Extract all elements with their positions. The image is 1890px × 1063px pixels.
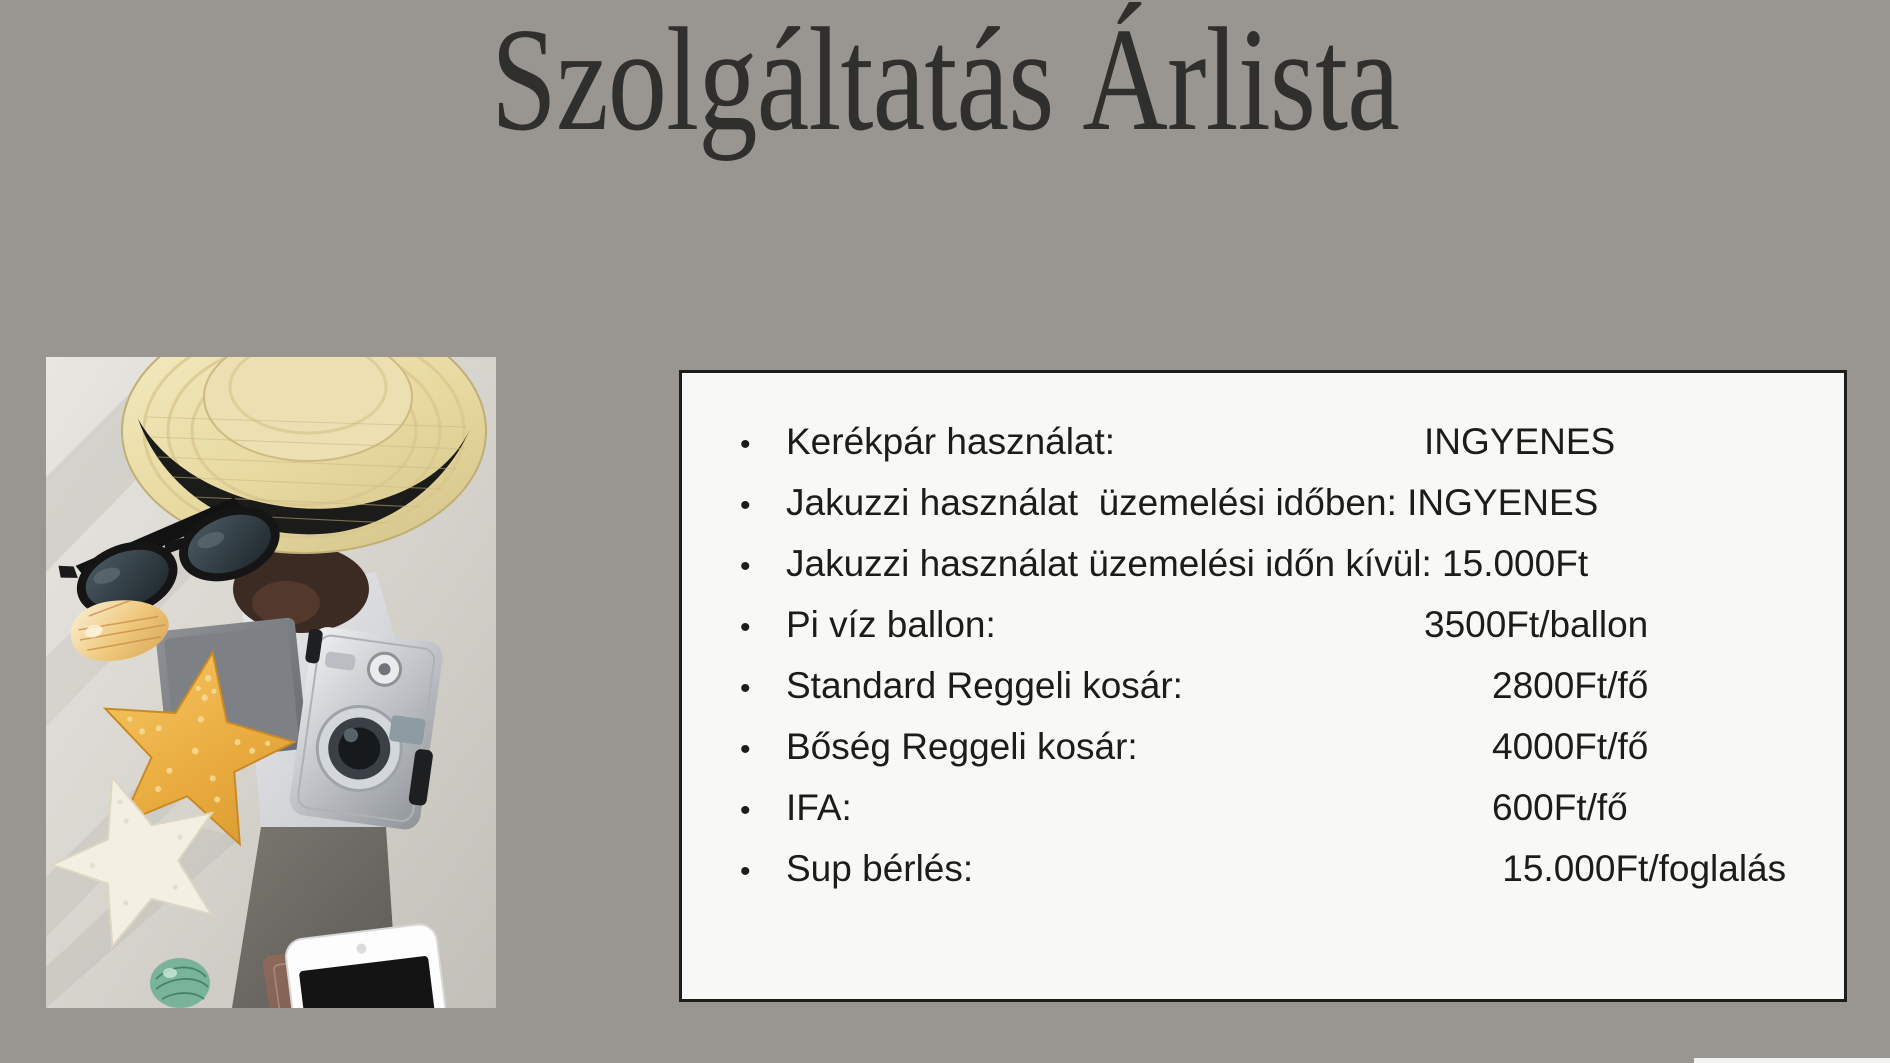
bullet-icon: • (740, 674, 786, 704)
list-item: • Kerékpár használat: INGYENES (682, 421, 1844, 482)
list-item: • Bőség Reggeli kosár: 4000Ft/fő (682, 726, 1844, 787)
list-item: • Pi víz ballon: 3500Ft/ballon (682, 604, 1844, 665)
service-label: IFA: (786, 787, 852, 829)
service-price: 2800Ft/fő (1492, 665, 1844, 707)
service-price: INGYENES (1397, 482, 1599, 524)
service-label: Jakuzzi használat üzemelési időn kívül: (786, 543, 1432, 585)
list-item: • Jakuzzi használat üzemelési időben: IN… (682, 482, 1844, 543)
slide: Szolgáltatás Árlista (0, 0, 1890, 1063)
service-label: Jakuzzi használat üzemelési időben: (786, 482, 1397, 524)
service-label: Kerékpár használat: (786, 421, 1115, 463)
service-label: Bőség Reggeli kosár: (786, 726, 1138, 768)
price-card: • Kerékpár használat: INGYENES • Jakuzzi… (679, 370, 1847, 1002)
list-item: • Sup bérlés: 15.000Ft/foglalás (682, 848, 1844, 909)
bullet-icon: • (740, 857, 786, 887)
bullet-icon: • (740, 430, 786, 460)
service-label: Sup bérlés: (786, 848, 973, 890)
beach-flatlay-photo (46, 357, 496, 1008)
service-label: Standard Reggeli kosár: (786, 665, 1183, 707)
service-price: 4000Ft/fő (1492, 726, 1844, 768)
price-list: • Kerékpár használat: INGYENES • Jakuzzi… (682, 373, 1844, 909)
list-item: • Jakuzzi használat üzemelési időn kívül… (682, 543, 1844, 604)
list-item: • Standard Reggeli kosár: 2800Ft/fő (682, 665, 1844, 726)
service-label: Pi víz ballon: (786, 604, 996, 646)
page-title: Szolgáltatás Árlista (189, 6, 1701, 154)
list-item: • IFA: 600Ft/fő (682, 787, 1844, 848)
bullet-icon: • (740, 613, 786, 643)
service-price: 15.000Ft/foglalás (1492, 848, 1844, 890)
photo-clip (46, 357, 496, 1008)
service-price: 3500Ft/ballon (1424, 604, 1844, 646)
service-price: 15.000Ft (1432, 543, 1588, 585)
bullet-icon: • (740, 735, 786, 765)
corner-sliver (1694, 1058, 1890, 1063)
service-price: 600Ft/fő (1492, 787, 1844, 829)
bullet-icon: • (740, 796, 786, 826)
service-price: INGYENES (1424, 421, 1844, 463)
bullet-icon: • (740, 491, 786, 521)
bullet-icon: • (740, 552, 786, 582)
